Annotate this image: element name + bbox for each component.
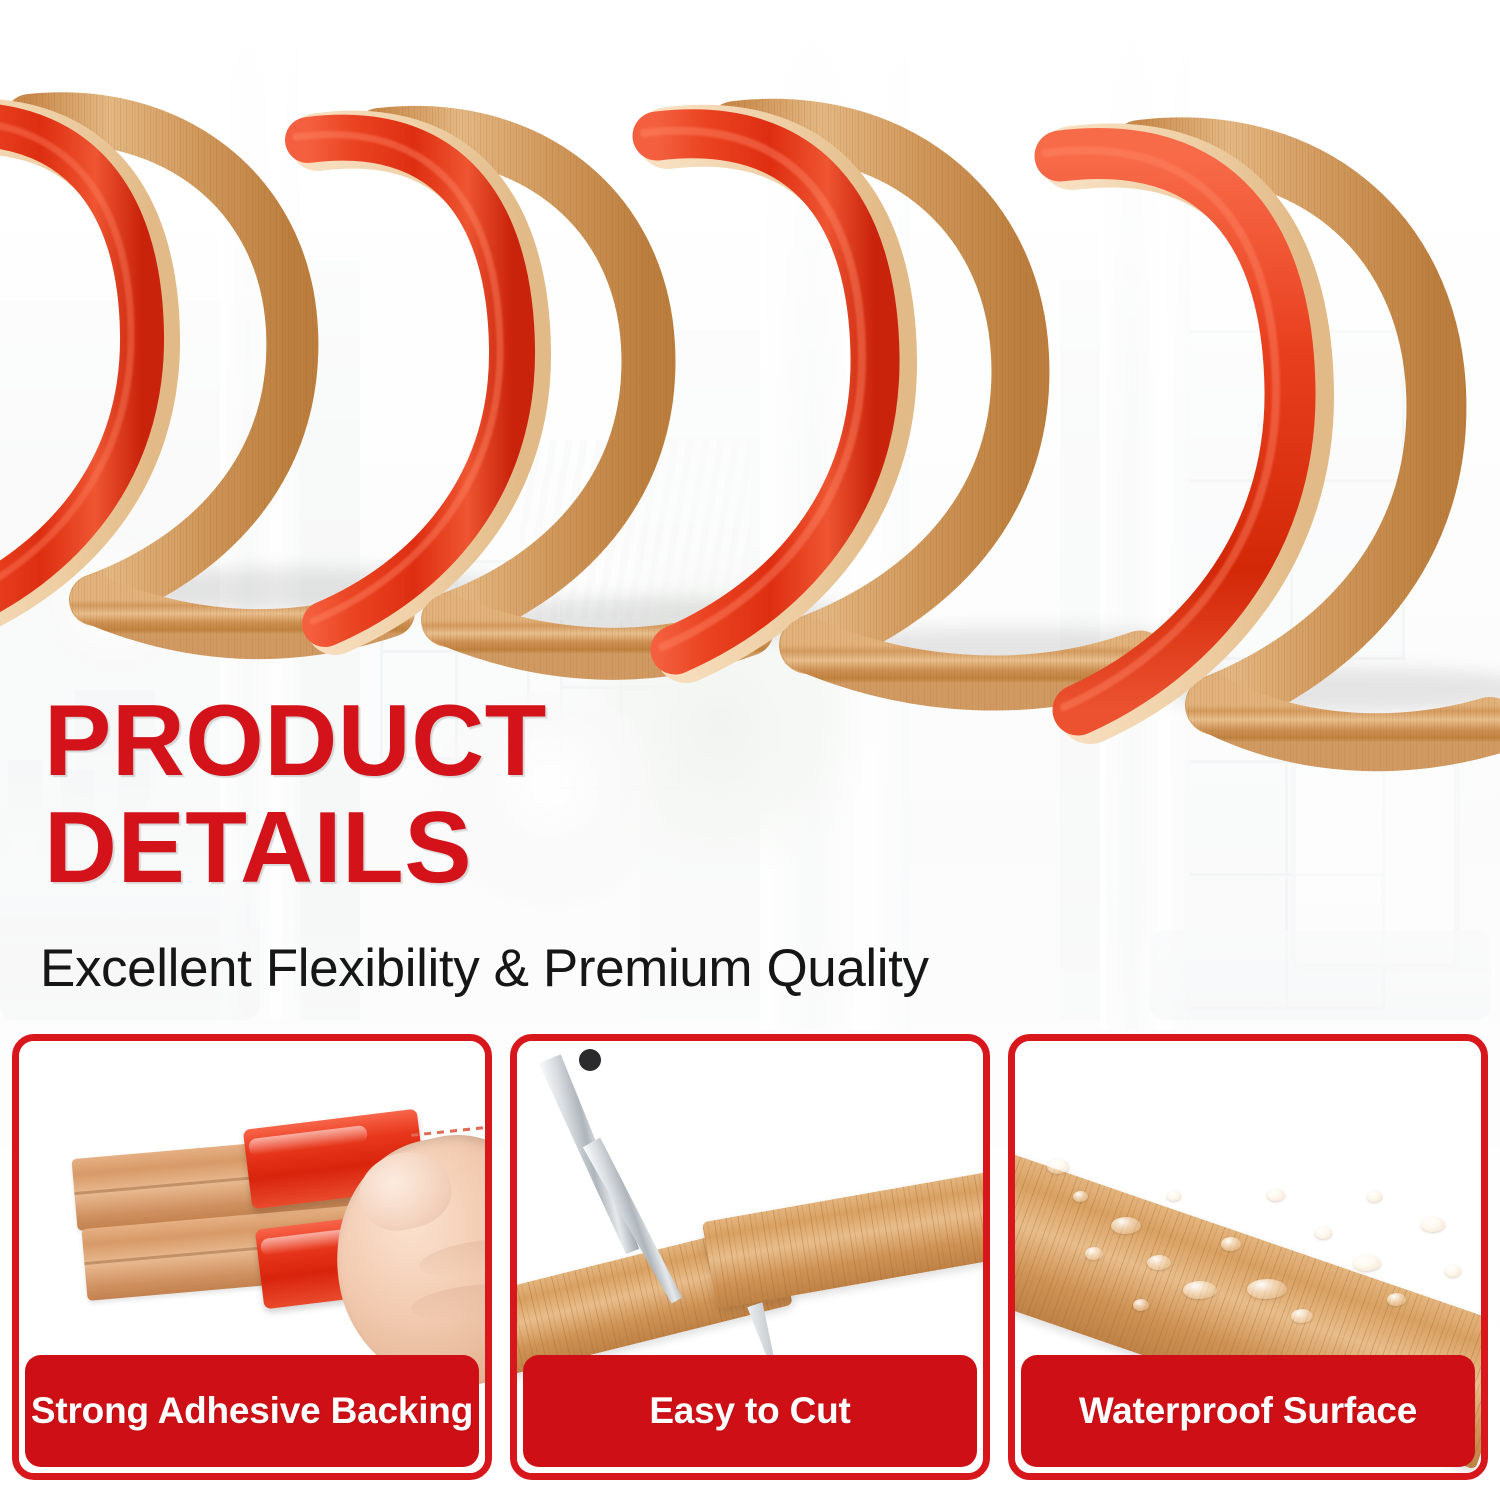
- feature-card-adhesive: Strong Adhesive Backing: [12, 1034, 492, 1480]
- product-detail-banner: PRODUCT DETAILS Excellent Flexibility & …: [0, 0, 1500, 1500]
- feature-caption-adhesive: Strong Adhesive Backing: [25, 1355, 479, 1467]
- hero-coiled-edge-banding: [0, 0, 1500, 800]
- feature-caption-waterproof: Waterproof Surface: [1021, 1355, 1475, 1467]
- feature-card-cut: Easy to Cut: [510, 1034, 990, 1480]
- page-title-line-1: PRODUCT: [44, 688, 547, 795]
- coil-loop-1: [0, 118, 390, 634]
- feature-card-waterproof: Waterproof Surface: [1008, 1034, 1488, 1480]
- feature-card-list: Strong Adhesive Backing Easy to Cut: [0, 1034, 1500, 1480]
- page-title-line-2: DETAILS: [44, 795, 547, 902]
- feature-caption-cut: Easy to Cut: [523, 1355, 977, 1467]
- coil-loop-3: [644, 128, 1140, 683]
- page-subtitle: Excellent Flexibility & Premium Quality: [40, 938, 929, 999]
- page-title: PRODUCT DETAILS: [44, 688, 547, 902]
